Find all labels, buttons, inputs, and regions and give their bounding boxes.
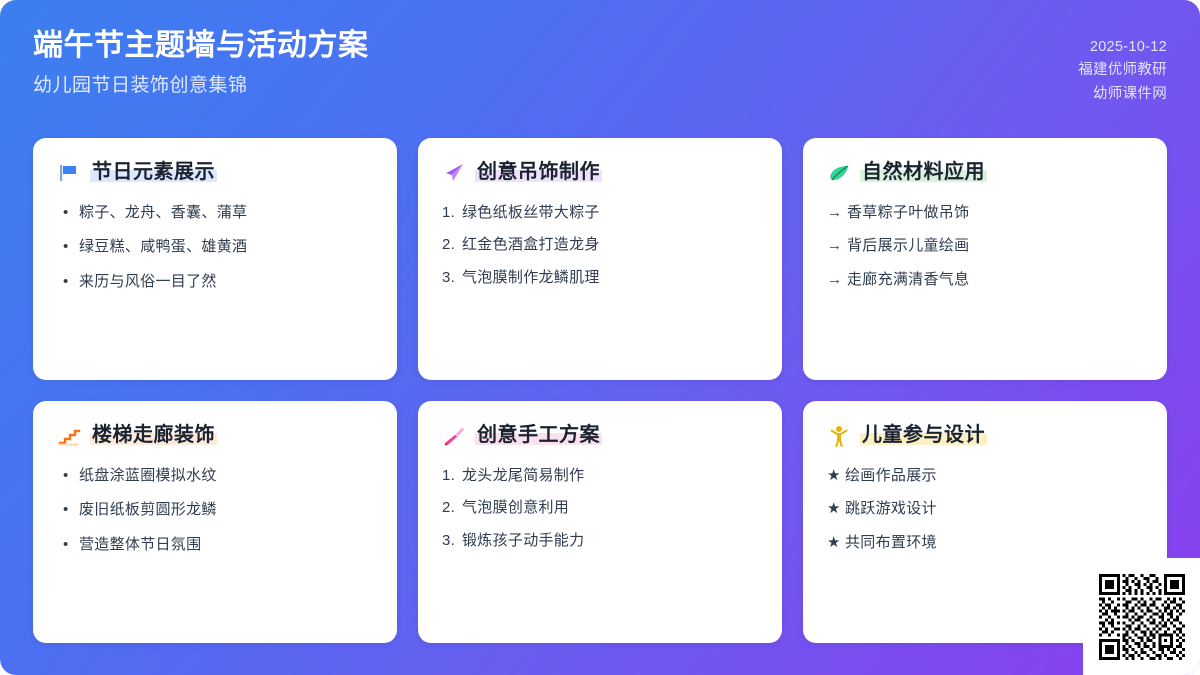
list-item: 3. 气泡膜制作龙鳞肌理 xyxy=(442,268,758,288)
list-item: • 纸盘涂蓝圈模拟水纹 xyxy=(57,466,373,486)
list-marker: • xyxy=(57,237,79,257)
card-title: 创意手工方案 xyxy=(475,423,602,449)
child-icon xyxy=(827,424,851,448)
slide-header: 端午节主题墙与活动方案 幼儿园节日装饰创意集锦 2025-10-12 福建优师教… xyxy=(33,26,1167,106)
list-marker: 2. xyxy=(442,235,462,255)
list-item: • 粽子、龙舟、香囊、蒲草 xyxy=(57,203,373,223)
list-marker: • xyxy=(57,500,79,520)
list-item-text: 废旧纸板剪圆形龙鳞 xyxy=(79,500,373,520)
list-item-text: 绿色纸板丝带大粽子 xyxy=(462,203,758,223)
list-item-text: 共同布置环境 xyxy=(845,533,1143,553)
card-header: 儿童参与设计 xyxy=(827,423,1143,449)
list-item: → 香草粽子叶做吊饰 xyxy=(827,203,1143,223)
card-header: 楼梯走廊装饰 xyxy=(57,423,373,449)
list-item-text: 锻炼孩子动手能力 xyxy=(462,531,758,551)
list-marker: • xyxy=(57,466,79,486)
meta-date: 2025-10-12 xyxy=(1090,36,1167,59)
list-marker: 1. xyxy=(442,203,462,223)
title-block: 端午节主题墙与活动方案 幼儿园节日装饰创意集锦 xyxy=(33,26,369,99)
list-marker: → xyxy=(827,236,847,256)
qr-panel xyxy=(1083,558,1200,675)
list-item-text: 纸盘涂蓝圈模拟水纹 xyxy=(79,466,373,486)
list-item-text: 气泡膜制作龙鳞肌理 xyxy=(462,268,758,288)
list-item: 1. 绿色纸板丝带大粽子 xyxy=(442,203,758,223)
card-list: → 香草粽子叶做吊饰 → 背后展示儿童绘画 → 走廊充满清香气息 xyxy=(827,203,1143,290)
card-header: 创意吊饰制作 xyxy=(442,160,758,186)
paper-plane-icon xyxy=(442,161,466,185)
list-item: ★ 跳跃游戏设计 xyxy=(827,499,1143,519)
page-subtitle: 幼儿园节日装饰创意集锦 xyxy=(33,74,369,99)
list-marker: 1. xyxy=(442,466,462,486)
card-creative-hangings[interactable]: 创意吊饰制作 1. 绿色纸板丝带大粽子 2. 红金色酒盒打造龙身 3. 气泡膜制… xyxy=(418,138,782,380)
list-item: → 走廊充满清香气息 xyxy=(827,270,1143,290)
stairs-icon xyxy=(57,424,81,448)
list-item-text: 跳跃游戏设计 xyxy=(845,499,1143,519)
list-marker: • xyxy=(57,272,79,292)
list-marker: → xyxy=(827,203,847,223)
list-item: 3. 锻炼孩子动手能力 xyxy=(442,531,758,551)
list-item-text: 绘画作品展示 xyxy=(845,466,1143,486)
card-list: 1. 龙头龙尾简易制作 2. 气泡膜创意利用 3. 锻炼孩子动手能力 xyxy=(442,466,758,551)
card-header: 节日元素展示 xyxy=(57,160,373,186)
list-item-text: 龙头龙尾简易制作 xyxy=(462,466,758,486)
list-item: → 背后展示儿童绘画 xyxy=(827,236,1143,256)
card-list: ★ 绘画作品展示 ★ 跳跃游戏设计 ★ 共同布置环境 xyxy=(827,466,1143,553)
card-grid: 节日元素展示 • 粽子、龙舟、香囊、蒲草 • 绿豆糕、咸鸭蛋、雄黄酒 • 来历与… xyxy=(33,138,1167,643)
list-item: ★ 共同布置环境 xyxy=(827,533,1143,553)
card-list: 1. 绿色纸板丝带大粽子 2. 红金色酒盒打造龙身 3. 气泡膜制作龙鳞肌理 xyxy=(442,203,758,288)
list-marker: → xyxy=(827,270,847,290)
list-marker: • xyxy=(57,535,79,555)
list-item-text: 来历与风俗一目了然 xyxy=(79,272,373,292)
list-item: 2. 红金色酒盒打造龙身 xyxy=(442,235,758,255)
list-item-text: 气泡膜创意利用 xyxy=(462,498,758,518)
list-item: ★ 绘画作品展示 xyxy=(827,466,1143,486)
list-marker: 3. xyxy=(442,268,462,288)
card-list: • 粽子、龙舟、香囊、蒲草 • 绿豆糕、咸鸭蛋、雄黄酒 • 来历与风俗一目了然 xyxy=(57,203,373,292)
flag-icon xyxy=(57,161,81,185)
card-title: 节日元素展示 xyxy=(90,160,217,186)
list-item-text: 走廊充满清香气息 xyxy=(847,270,1143,290)
list-item-text: 绿豆糕、咸鸭蛋、雄黄酒 xyxy=(79,237,373,257)
card-festival-elements[interactable]: 节日元素展示 • 粽子、龙舟、香囊、蒲草 • 绿豆糕、咸鸭蛋、雄黄酒 • 来历与… xyxy=(33,138,397,380)
list-item-text: 背后展示儿童绘画 xyxy=(847,236,1143,256)
card-list: • 纸盘涂蓝圈模拟水纹 • 废旧纸板剪圆形龙鳞 • 营造整体节日氛围 xyxy=(57,466,373,555)
card-header: 创意手工方案 xyxy=(442,423,758,449)
card-title: 楼梯走廊装饰 xyxy=(90,423,217,449)
list-item: 2. 气泡膜创意利用 xyxy=(442,498,758,518)
leaf-icon xyxy=(827,161,851,185)
list-marker: 2. xyxy=(442,498,462,518)
card-handcraft-plan[interactable]: 创意手工方案 1. 龙头龙尾简易制作 2. 气泡膜创意利用 3. 锻炼孩子动手能… xyxy=(418,401,782,643)
card-title: 自然材料应用 xyxy=(860,160,987,186)
meta-site: 幼师课件网 xyxy=(1093,83,1167,106)
list-item: • 绿豆糕、咸鸭蛋、雄黄酒 xyxy=(57,237,373,257)
list-item: 1. 龙头龙尾简易制作 xyxy=(442,466,758,486)
card-natural-materials[interactable]: 自然材料应用 → 香草粽子叶做吊饰 → 背后展示儿童绘画 → 走廊充满清香气息 xyxy=(803,138,1167,380)
list-item: • 来历与风俗一目了然 xyxy=(57,272,373,292)
page-title: 端午节主题墙与活动方案 xyxy=(33,26,369,65)
list-marker: ★ xyxy=(827,499,845,519)
list-marker: ★ xyxy=(827,466,845,486)
card-title: 创意吊饰制作 xyxy=(475,160,602,186)
list-item-text: 营造整体节日氛围 xyxy=(79,535,373,555)
list-item: • 营造整体节日氛围 xyxy=(57,535,373,555)
list-item-text: 粽子、龙舟、香囊、蒲草 xyxy=(79,203,373,223)
list-item: • 废旧纸板剪圆形龙鳞 xyxy=(57,500,373,520)
slide-root: 端午节主题墙与活动方案 幼儿园节日装饰创意集锦 2025-10-12 福建优师教… xyxy=(0,0,1200,675)
list-marker: ★ xyxy=(827,533,845,553)
card-header: 自然材料应用 xyxy=(827,160,1143,186)
list-marker: 3. xyxy=(442,531,462,551)
meta-organization: 福建优师教研 xyxy=(1078,59,1167,82)
paintbrush-icon xyxy=(442,424,466,448)
card-stairway-decoration[interactable]: 楼梯走廊装饰 • 纸盘涂蓝圈模拟水纹 • 废旧纸板剪圆形龙鳞 • 营造整体节日氛… xyxy=(33,401,397,643)
list-marker: • xyxy=(57,203,79,223)
qr-code[interactable] xyxy=(1099,574,1185,660)
header-meta: 2025-10-12 福建优师教研 幼师课件网 xyxy=(1078,26,1167,106)
list-item-text: 红金色酒盒打造龙身 xyxy=(462,235,758,255)
card-title: 儿童参与设计 xyxy=(860,423,987,449)
list-item-text: 香草粽子叶做吊饰 xyxy=(847,203,1143,223)
